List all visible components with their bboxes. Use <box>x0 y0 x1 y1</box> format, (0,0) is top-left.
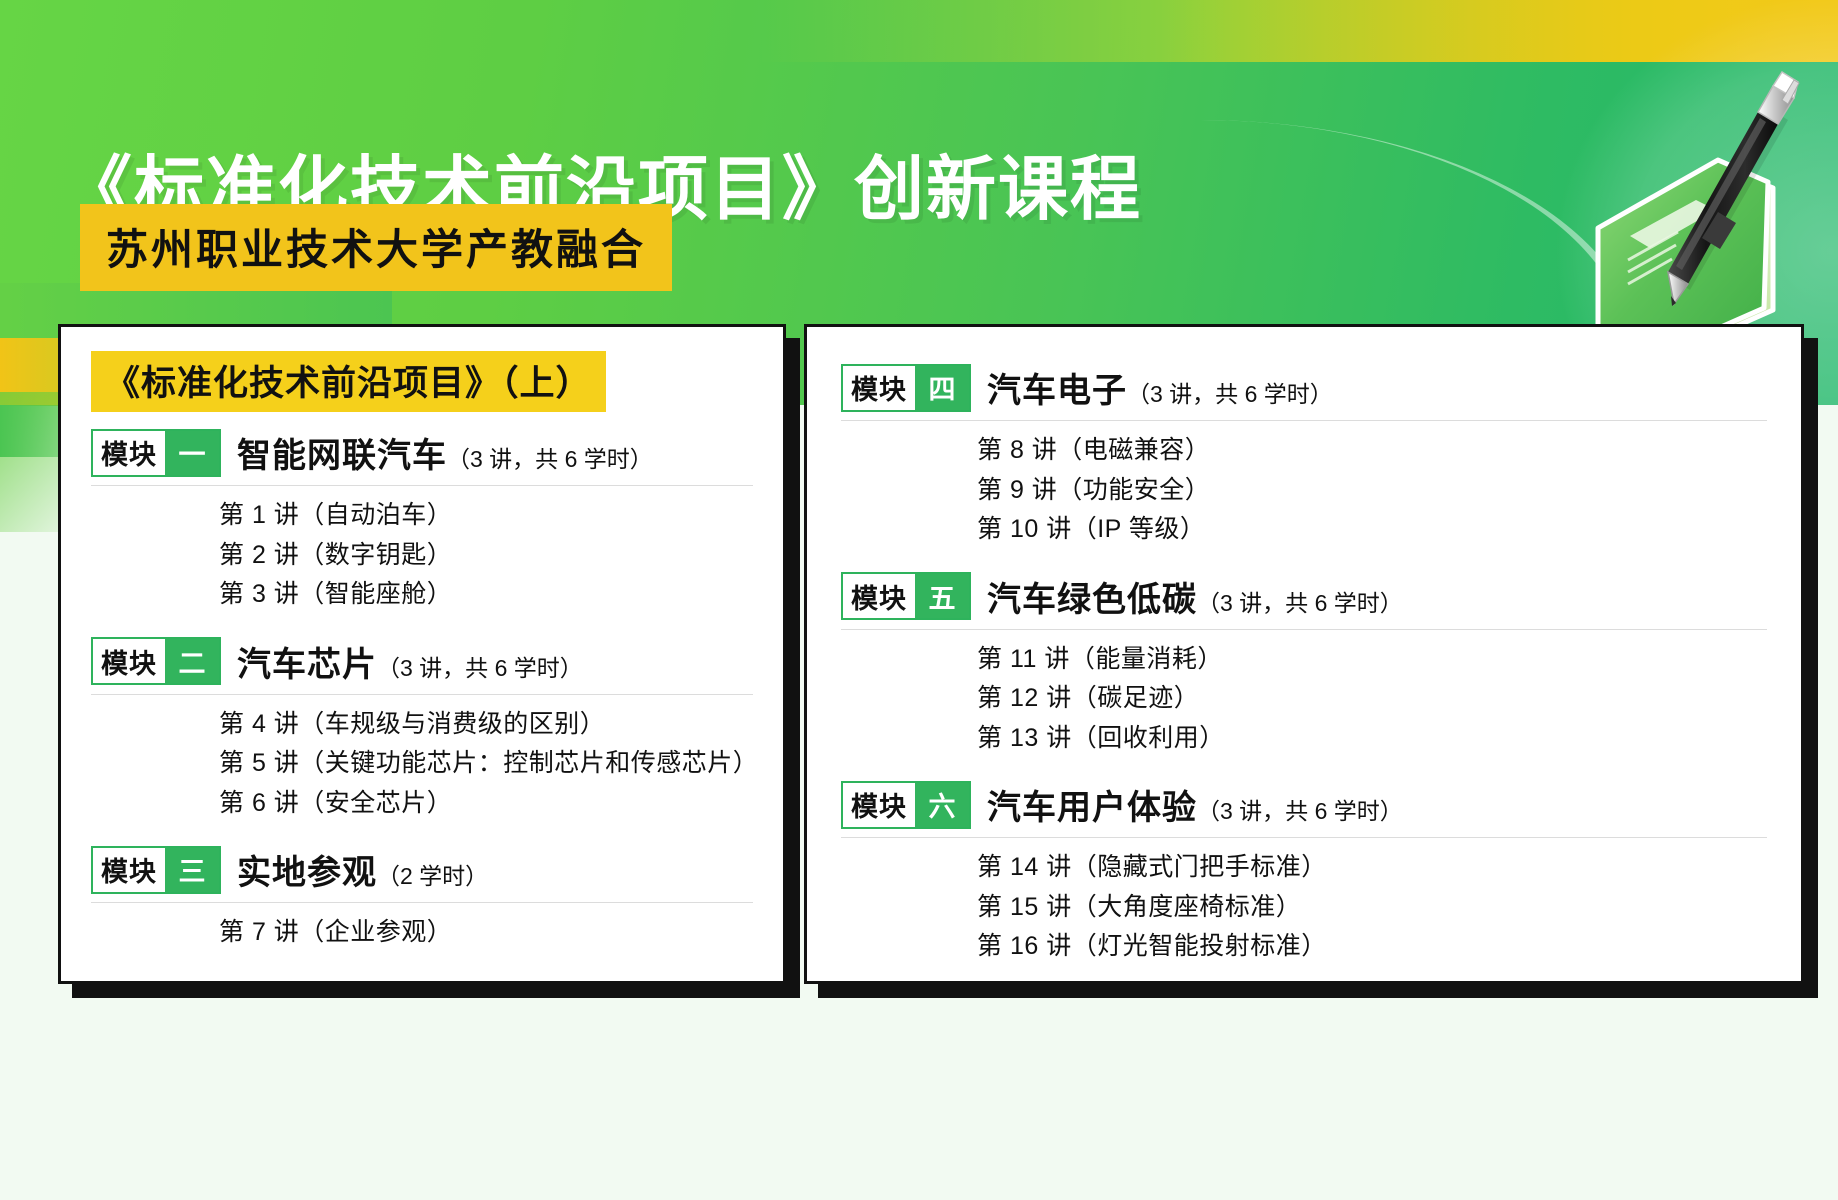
module-block: 模块三实地参观（2 学时）第 7 讲（企业参观） <box>91 835 753 963</box>
lecture-item: 第 3 讲（智能座舱） <box>219 575 753 615</box>
module-meta: （3 讲，共 6 学时） <box>377 655 583 681</box>
module-name: 汽车绿色低碳 <box>987 581 1197 619</box>
module-header: 模块四汽车电子（3 讲，共 6 学时） <box>841 353 1767 421</box>
module-badge-label: 模块 <box>843 366 915 410</box>
lecture-item: 第 1 讲（自动泊车） <box>219 496 753 536</box>
lecture-item: 第 2 讲（数字钥匙） <box>219 536 753 576</box>
module-badge: 模块一 <box>91 429 221 477</box>
module-badge: 模块三 <box>91 846 221 894</box>
module-name: 汽车用户体验 <box>987 789 1197 827</box>
module-meta: （3 讲，共 6 学时） <box>1127 381 1333 407</box>
left-course-card: 《标准化技术前沿项目》（上） 模块一智能网联汽车（3 讲，共 6 学时）第 1 … <box>58 324 786 984</box>
module-badge-number: 五 <box>915 574 969 618</box>
module-badge-number: 四 <box>915 366 969 410</box>
module-header: 模块三实地参观（2 学时） <box>91 835 753 903</box>
left-card-title-highlight: 《标准化技术前沿项目》（上） <box>91 351 606 412</box>
right-course-card: 模块四汽车电子（3 讲，共 6 学时）第 8 讲（电磁兼容）第 9 讲（功能安全… <box>804 324 1804 984</box>
subtitle-text: 苏州职业技术大学产教融合 <box>106 216 646 277</box>
module-title-row: 汽车绿色低碳（3 讲，共 6 学时） <box>987 572 1403 621</box>
lecture-item: 第 13 讲（回收利用） <box>977 719 1767 759</box>
left-card-title: 《标准化技术前沿项目》（上） <box>105 355 592 406</box>
module-name: 汽车电子 <box>987 372 1127 410</box>
module-title-row: 实地参观（2 学时） <box>237 845 488 894</box>
lecture-item: 第 15 讲（大角度座椅标准） <box>977 888 1767 928</box>
lecture-item: 第 14 讲（隐藏式门把手标准） <box>977 848 1767 888</box>
module-badge: 模块二 <box>91 637 221 685</box>
lecture-list: 第 14 讲（隐藏式门把手标准）第 15 讲（大角度座椅标准）第 16 讲（灯光… <box>841 838 1767 977</box>
module-title-row: 汽车用户体验（3 讲，共 6 学时） <box>987 780 1403 829</box>
subtitle-highlight: 苏州职业技术大学产教融合 <box>80 204 672 291</box>
module-badge-label: 模块 <box>843 574 915 618</box>
module-badge-label: 模块 <box>93 639 165 683</box>
module-block: 模块五汽车绿色低碳（3 讲，共 6 学时）第 11 讲（能量消耗）第 12 讲（… <box>841 562 1767 769</box>
module-meta: （2 学时） <box>377 863 488 889</box>
module-title-row: 汽车芯片（3 讲，共 6 学时） <box>237 637 583 686</box>
module-block: 模块一智能网联汽车（3 讲，共 6 学时）第 1 讲（自动泊车）第 2 讲（数字… <box>91 418 753 625</box>
notebook-with-pen-icon <box>1568 60 1818 360</box>
lecture-item: 第 7 讲（企业参观） <box>219 913 753 953</box>
module-meta: （3 讲，共 6 学时） <box>1197 590 1403 616</box>
module-meta: （3 讲，共 6 学时） <box>447 446 653 472</box>
right-card-modules: 模块四汽车电子（3 讲，共 6 学时）第 8 讲（电磁兼容）第 9 讲（功能安全… <box>841 353 1767 977</box>
module-name: 实地参观 <box>237 854 377 892</box>
lecture-item: 第 6 讲（安全芯片） <box>219 784 753 824</box>
module-block: 模块四汽车电子（3 讲，共 6 学时）第 8 讲（电磁兼容）第 9 讲（功能安全… <box>841 353 1767 560</box>
lecture-item: 第 8 讲（电磁兼容） <box>977 431 1767 471</box>
module-block: 模块六汽车用户体验（3 讲，共 6 学时）第 14 讲（隐藏式门把手标准）第 1… <box>841 770 1767 977</box>
lecture-item: 第 16 讲（灯光智能投射标准） <box>977 927 1767 967</box>
module-meta: （3 讲，共 6 学时） <box>1197 798 1403 824</box>
lecture-item: 第 11 讲（能量消耗） <box>977 640 1767 680</box>
lecture-item: 第 9 讲（功能安全） <box>977 471 1767 511</box>
module-badge-number: 三 <box>165 848 219 892</box>
left-card-modules: 模块一智能网联汽车（3 讲，共 6 学时）第 1 讲（自动泊车）第 2 讲（数字… <box>91 418 753 963</box>
lecture-list: 第 7 讲（企业参观） <box>91 903 753 963</box>
lecture-list: 第 4 讲（车规级与消费级的区别）第 5 讲（关键功能芯片：控制芯片和传感芯片）… <box>91 695 753 834</box>
module-header: 模块六汽车用户体验（3 讲，共 6 学时） <box>841 770 1767 838</box>
lecture-list: 第 11 讲（能量消耗）第 12 讲（碳足迹）第 13 讲（回收利用） <box>841 630 1767 769</box>
module-header: 模块五汽车绿色低碳（3 讲，共 6 学时） <box>841 562 1767 630</box>
module-title-row: 汽车电子（3 讲，共 6 学时） <box>987 363 1333 412</box>
module-name: 汽车芯片 <box>237 646 377 684</box>
lecture-item: 第 10 讲（IP 等级） <box>977 510 1767 550</box>
lecture-item: 第 5 讲（关键功能芯片：控制芯片和传感芯片） <box>219 744 753 784</box>
module-name: 智能网联汽车 <box>237 437 447 475</box>
module-badge-number: 一 <box>165 431 219 475</box>
module-header: 模块一智能网联汽车（3 讲，共 6 学时） <box>91 418 753 486</box>
module-badge: 模块六 <box>841 781 971 829</box>
module-block: 模块二汽车芯片（3 讲，共 6 学时）第 4 讲（车规级与消费级的区别）第 5 … <box>91 627 753 834</box>
poster-root: 《标准化技术前沿项目》创新课程 苏州职业技术大学产教融合 《标准化技术前沿项目》… <box>0 0 1838 1200</box>
module-badge-label: 模块 <box>93 848 165 892</box>
lecture-list: 第 8 讲（电磁兼容）第 9 讲（功能安全）第 10 讲（IP 等级） <box>841 421 1767 560</box>
module-badge-number: 二 <box>165 639 219 683</box>
module-badge: 模块四 <box>841 364 971 412</box>
module-badge-number: 六 <box>915 783 969 827</box>
module-badge-label: 模块 <box>843 783 915 827</box>
module-badge: 模块五 <box>841 572 971 620</box>
module-header: 模块二汽车芯片（3 讲，共 6 学时） <box>91 627 753 695</box>
module-badge-label: 模块 <box>93 431 165 475</box>
lecture-item: 第 4 讲（车规级与消费级的区别） <box>219 705 753 745</box>
lecture-list: 第 1 讲（自动泊车）第 2 讲（数字钥匙）第 3 讲（智能座舱） <box>91 486 753 625</box>
module-title-row: 智能网联汽车（3 讲，共 6 学时） <box>237 428 653 477</box>
lecture-item: 第 12 讲（碳足迹） <box>977 679 1767 719</box>
